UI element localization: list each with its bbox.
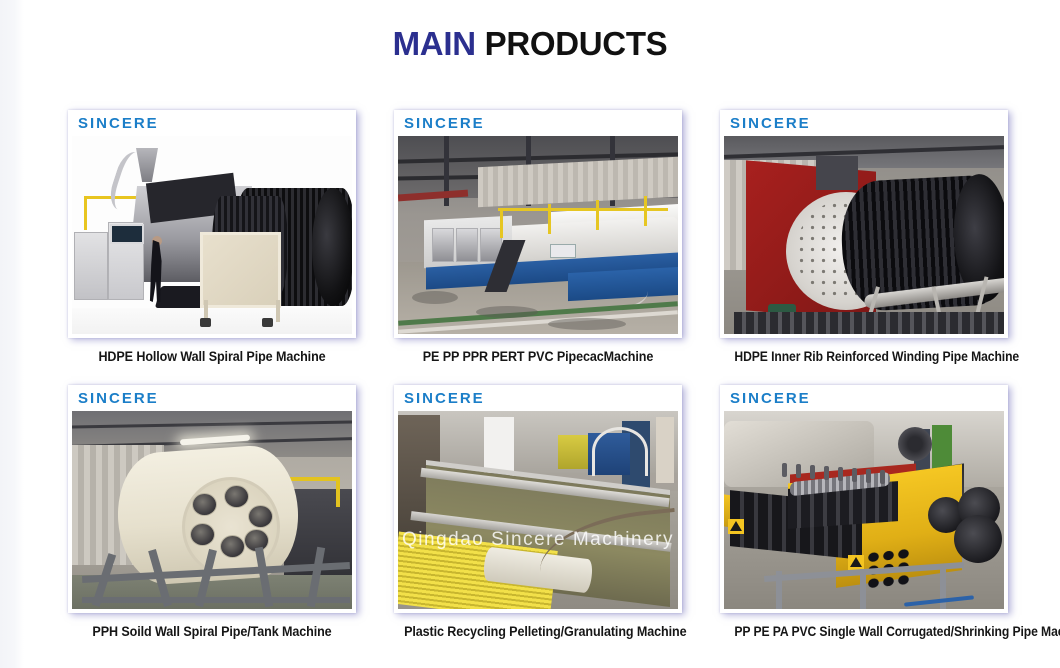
image-bolt bbox=[852, 468, 857, 482]
image-tank-port bbox=[190, 523, 215, 546]
page-title: MAIN PRODUCTS bbox=[0, 22, 1060, 66]
product-card-2[interactable]: SINCERE bbox=[394, 110, 682, 338]
image-fan bbox=[898, 427, 932, 461]
image-frame-bar bbox=[82, 597, 350, 603]
product-cell-6[interactable]: SINCERE bbox=[720, 385, 1008, 639]
sincere-watermark: SINCERE bbox=[404, 115, 485, 132]
image-floor-grate bbox=[734, 312, 1004, 334]
product-caption-6: PP PE PA PVC Single Wall Corrugated/Shri… bbox=[734, 624, 993, 639]
product-grid: SINCERE bbox=[68, 110, 1008, 639]
image-tank-port bbox=[224, 485, 249, 508]
product-image-6 bbox=[724, 411, 1004, 609]
image-bolt bbox=[796, 464, 801, 478]
product-card-1[interactable]: SINCERE bbox=[68, 110, 356, 338]
product-caption-3: HDPE Inner Rib Reinforced Winding Pipe M… bbox=[734, 349, 993, 364]
image-leg bbox=[860, 569, 866, 609]
image-worker bbox=[656, 417, 674, 483]
image-haul-off-unit bbox=[432, 228, 454, 262]
image-floor-wet-patch bbox=[548, 318, 626, 330]
product-caption-5: Plastic Recycling Pelleting/Granulating … bbox=[404, 624, 672, 639]
image-cream-housing bbox=[200, 232, 281, 308]
page-title-products: PRODUCTS bbox=[485, 25, 668, 62]
product-image-1 bbox=[72, 136, 352, 334]
sincere-watermark: SINCERE bbox=[78, 115, 159, 132]
image-rail-post bbox=[596, 200, 599, 230]
image-machine-foot bbox=[262, 318, 273, 327]
image-bolt-row bbox=[782, 463, 892, 477]
product-cell-1[interactable]: SINCERE bbox=[68, 110, 356, 364]
product-caption-4: PPH Soild Wall Spiral Pipe/Tank Machine bbox=[78, 624, 346, 639]
product-caption-1: HDPE Hollow Wall Spiral Pipe Machine bbox=[78, 349, 346, 364]
image-floor-wet-patch bbox=[412, 291, 458, 304]
sincere-watermark: SINCERE bbox=[730, 390, 811, 407]
page-left-edge bbox=[0, 0, 24, 668]
page-title-main: MAIN bbox=[393, 25, 476, 62]
product-cell-2[interactable]: SINCERE bbox=[394, 110, 682, 364]
image-rail-post bbox=[548, 204, 551, 234]
overlay-watermark: Qingdao Sincere Machinery bbox=[398, 529, 678, 551]
image-bolt bbox=[810, 465, 815, 479]
image-bolt bbox=[838, 467, 843, 481]
sincere-watermark: SINCERE bbox=[78, 390, 159, 407]
product-card-6[interactable]: SINCERE bbox=[720, 385, 1008, 613]
product-image-2 bbox=[398, 136, 678, 334]
image-frame-bar bbox=[82, 562, 350, 583]
image-pipe-end-face bbox=[312, 188, 352, 306]
image-control-cabinet bbox=[74, 232, 108, 300]
image-rail-post bbox=[500, 208, 503, 238]
product-caption-2: PE PP PPR PERT PVC PipecacMachine bbox=[404, 349, 672, 364]
product-image-4 bbox=[72, 411, 352, 609]
product-cell-5[interactable]: SINCERE bbox=[394, 385, 682, 639]
image-rail-post bbox=[644, 196, 647, 226]
image-floor-wet-patch bbox=[476, 306, 538, 318]
image-hose bbox=[592, 427, 648, 476]
image-machine-badge bbox=[550, 244, 576, 258]
image-steel-frame bbox=[82, 547, 350, 609]
image-tank-port bbox=[192, 493, 217, 516]
product-image-5: Qingdao Sincere Machinery bbox=[398, 411, 678, 609]
product-card-3[interactable]: SINCERE bbox=[720, 110, 1008, 338]
product-card-4[interactable]: SINCERE bbox=[68, 385, 356, 613]
image-bolt bbox=[782, 463, 787, 477]
image-tank-port bbox=[248, 505, 273, 528]
image-drive-disc bbox=[954, 515, 1002, 563]
image-yellow-rail-post bbox=[84, 196, 87, 230]
image-bolt bbox=[866, 469, 871, 483]
image-bolt bbox=[880, 470, 885, 484]
product-cell-3[interactable]: SINCERE bbox=[720, 110, 1008, 364]
image-haul-off-unit bbox=[456, 228, 478, 262]
product-image-3 bbox=[724, 136, 1004, 334]
image-machine-foot bbox=[200, 318, 211, 327]
image-rail-post bbox=[336, 477, 340, 507]
image-yellow-rail bbox=[498, 208, 668, 211]
sincere-watermark: SINCERE bbox=[404, 390, 485, 407]
image-control-panel bbox=[110, 224, 144, 244]
sincere-watermark: SINCERE bbox=[730, 115, 811, 132]
product-cell-4[interactable]: SINCERE bbox=[68, 385, 356, 639]
warning-label-icon bbox=[728, 519, 744, 534]
image-bolt bbox=[824, 466, 829, 480]
image-top-mechanism bbox=[816, 156, 858, 190]
product-showcase-page: MAIN PRODUCTS SINCERE bbox=[0, 0, 1060, 668]
product-card-5[interactable]: SINCERE bbox=[394, 385, 682, 613]
image-leg bbox=[776, 571, 782, 609]
